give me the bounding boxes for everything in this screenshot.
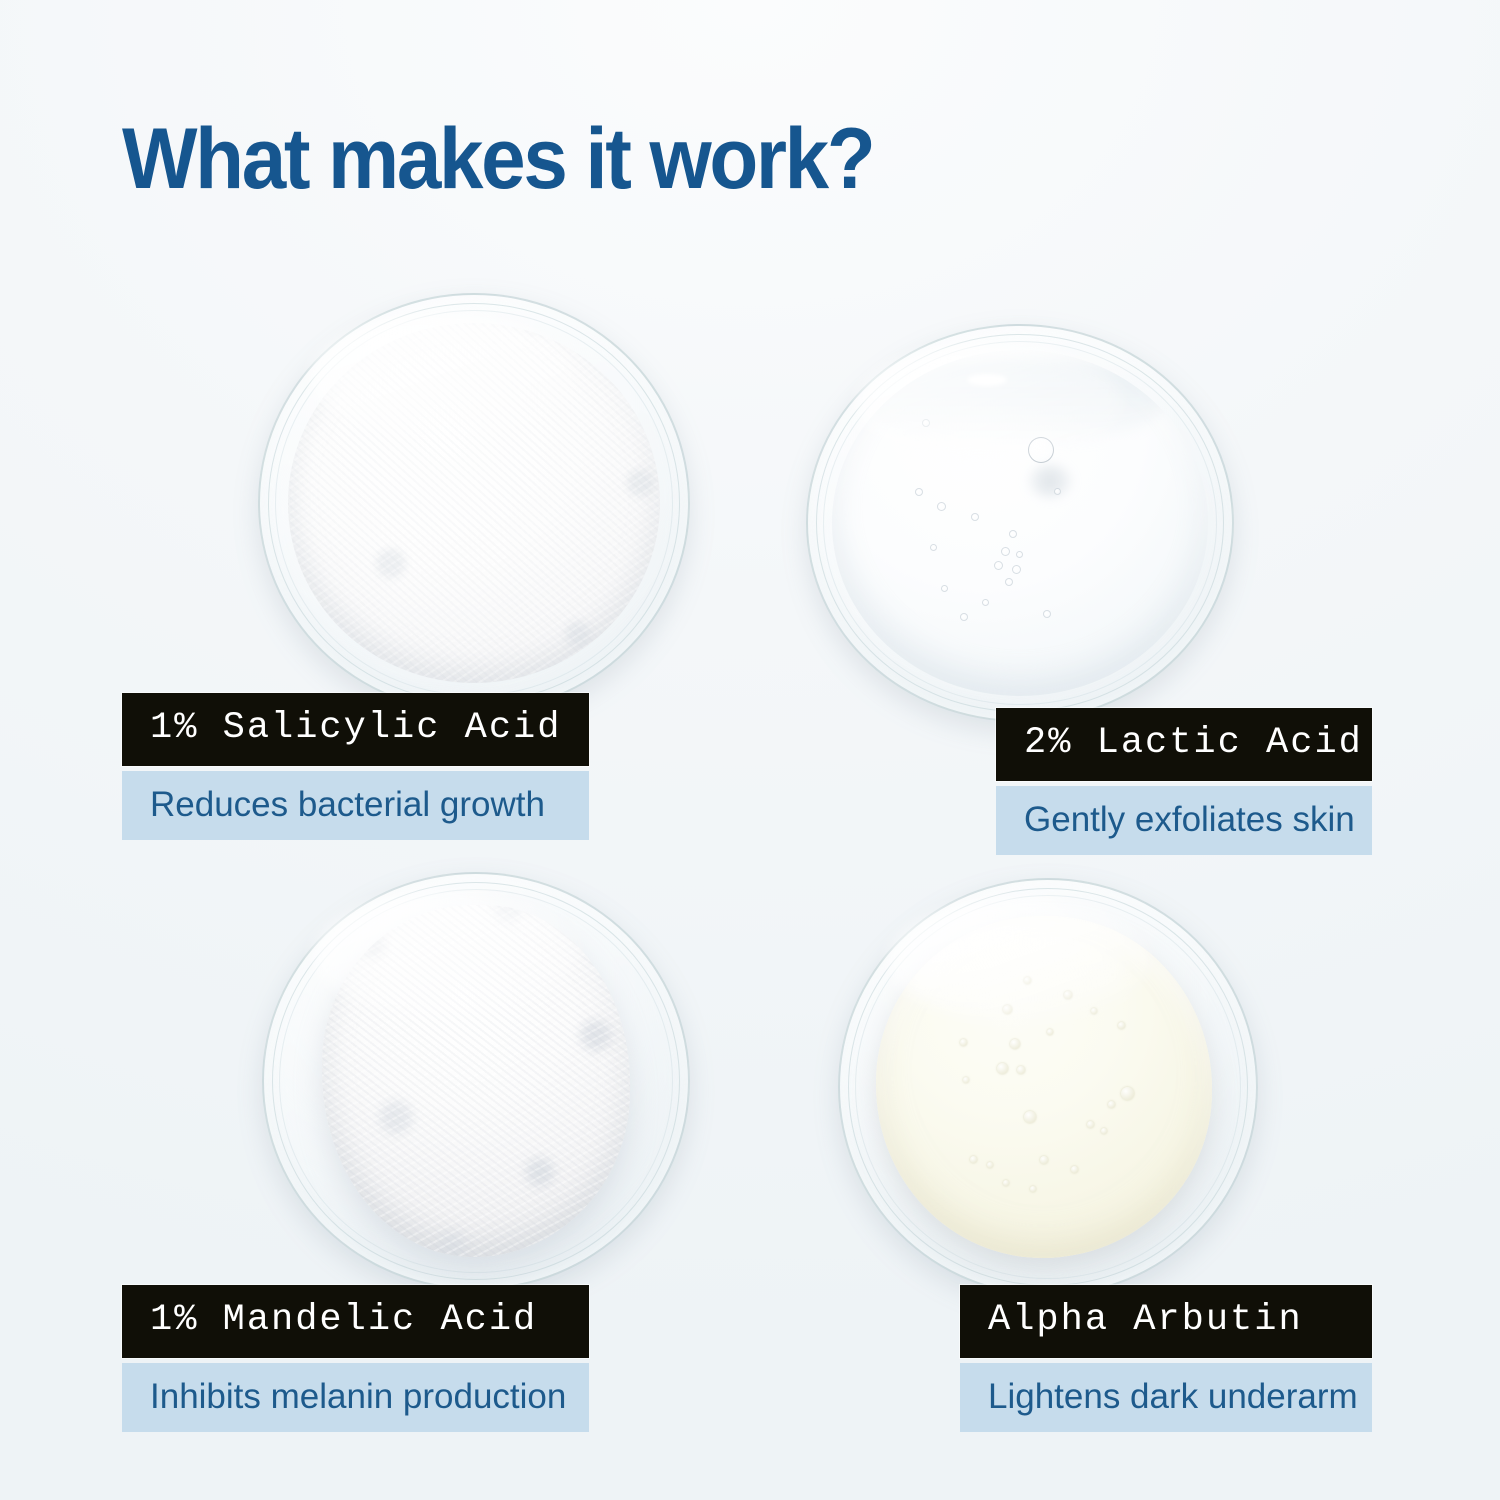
cream-bubble [1024,977,1031,984]
cream-bubble [1024,1111,1036,1123]
cream-bubble [1118,1022,1125,1029]
bubble-tiny [1012,565,1021,574]
page-title: What makes it work? [122,110,873,209]
cream-bubble [1108,1101,1115,1108]
cream-bubble [1091,1008,1097,1014]
bubble-large [1028,437,1054,463]
ingredient-name-alpha-arbutin: Alpha Arbutin [960,1285,1372,1358]
bubble-tiny [1043,610,1051,618]
ingredient-label-alpha-arbutin: Alpha Arbutin Lightens dark underarm [960,1285,1372,1432]
bubble-tiny [915,488,923,496]
ingredient-name-salicylic-acid: 1% Salicylic Acid [122,693,589,766]
cream-bubble [997,1063,1008,1074]
cream-bubble [1003,1005,1012,1014]
cream-bubble [1121,1087,1134,1100]
ingredient-label-salicylic-acid: 1% Salicylic Acid Reduces bacterial grow… [122,693,589,840]
cream-bubble [970,1156,977,1163]
cream-bubble [1030,1186,1036,1192]
sample-clear-gel [832,350,1208,696]
cream-bubble [1017,1066,1025,1074]
sample-cream-liquid [876,916,1212,1259]
petri-dish-clear-liquid [806,324,1234,722]
cream-bubble [1071,1166,1078,1173]
bubble-tiny [922,419,930,427]
cream-bubble [1010,1039,1020,1049]
bubble-tiny [1016,551,1023,558]
bubble-tiny [971,513,979,521]
cream-bubble [987,1162,993,1168]
sample-white-powder [288,323,660,683]
bubble-tiny [941,585,948,592]
ingredient-label-mandelic-acid: 1% Mandelic Acid Inhibits melanin produc… [122,1285,589,1432]
ingredient-label-lactic-acid: 2% Lactic Acid Gently exfoliates skin [996,708,1372,855]
ingredient-name-mandelic-acid: 1% Mandelic Acid [122,1285,589,1358]
ingredient-benefit-lactic-acid: Gently exfoliates skin [996,786,1372,855]
cream-bubble [1087,1121,1094,1128]
cream-bubble [1101,1128,1107,1134]
infographic-canvas: What makes it work? [0,0,1500,1500]
cream-bubble [1003,1180,1009,1186]
bubble-shadow [1028,464,1072,498]
ingredient-name-lactic-acid: 2% Lactic Acid [996,708,1372,781]
cream-bubble [1047,1029,1053,1035]
bubble-tiny [937,502,946,511]
petri-dish-powder-mound [262,872,690,1290]
bubble-tiny [930,544,937,551]
ingredient-benefit-salicylic-acid: Reduces bacterial growth [122,771,589,840]
bubble-tiny [1001,547,1010,556]
bubble-tiny [994,561,1003,570]
cream-bubble [963,1077,969,1083]
ingredient-benefit-mandelic-acid: Inhibits melanin production [122,1363,589,1432]
bubble-tiny [1005,578,1013,586]
sample-powder-mound [322,905,630,1256]
ingredient-benefit-alpha-arbutin: Lightens dark underarm [960,1363,1372,1432]
bubble-tiny [1009,530,1017,538]
petri-dish-white-powder [258,293,690,713]
liquid-highlight [967,374,1007,386]
cream-bubble [1040,1156,1048,1164]
petri-dish-cream-liquid [838,878,1258,1296]
cream-bubble [960,1039,967,1046]
bubble-tiny [982,599,989,606]
cream-bubble [1064,991,1072,999]
bubble-tiny [960,613,968,621]
